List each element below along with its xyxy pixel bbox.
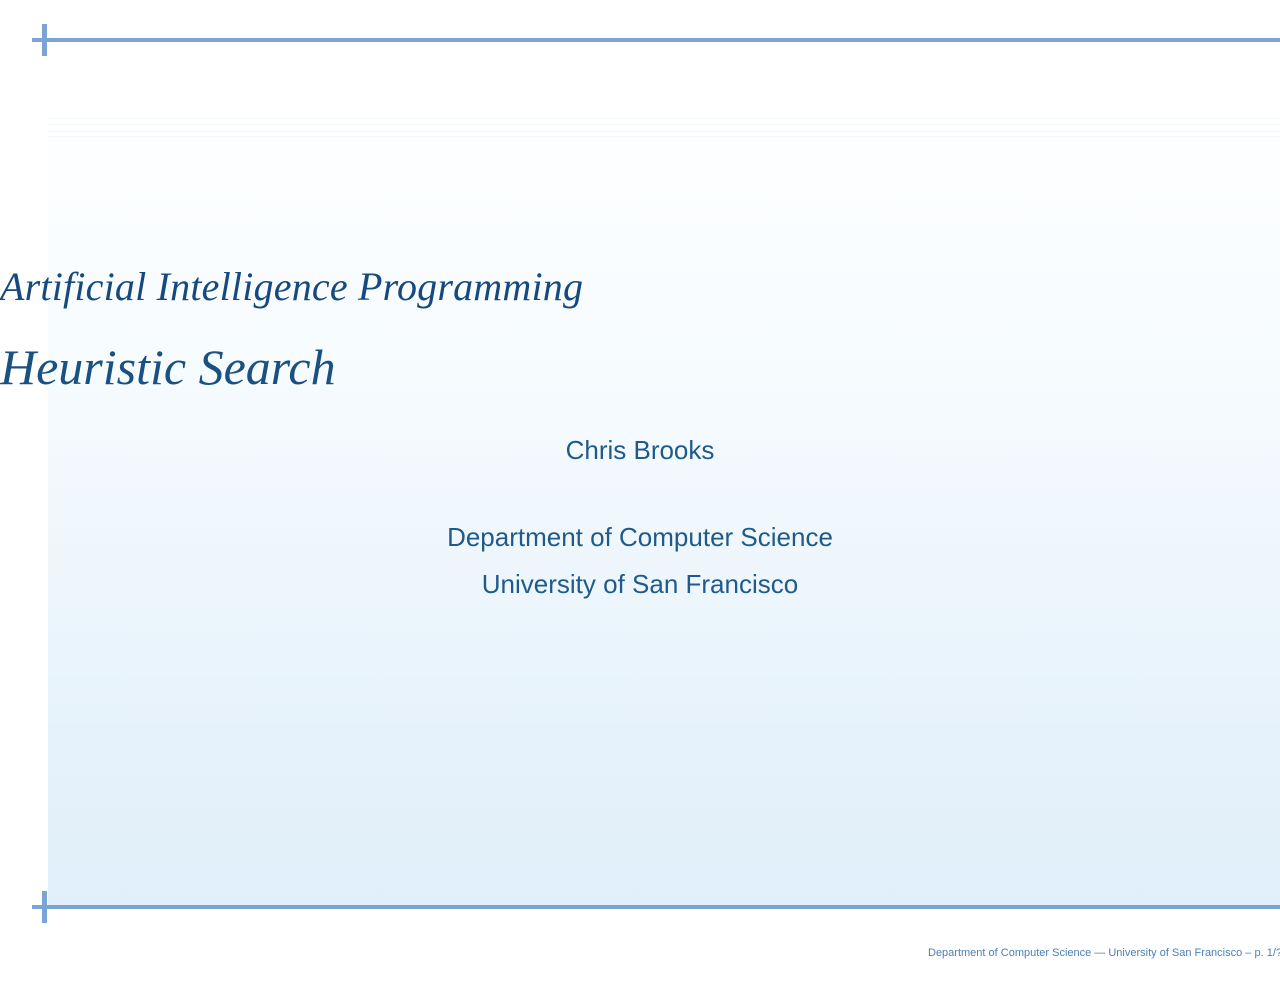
top-horizontal-rule xyxy=(32,38,1280,42)
gradient-band xyxy=(48,140,1280,141)
gradient-band xyxy=(48,136,1280,137)
slide-canvas: Artificial Intelligence Programming Heur… xyxy=(0,0,1280,989)
gradient-band xyxy=(48,131,1280,132)
slide-footer: Department of Computer Science — Univers… xyxy=(0,946,1280,961)
gradient-band xyxy=(48,124,1280,125)
top-left-crop-mark-icon xyxy=(42,24,47,56)
department-name: Department of Computer Science xyxy=(0,520,1280,554)
bottom-horizontal-rule xyxy=(32,905,1280,909)
course-title: Artificial Intelligence Programming xyxy=(0,262,1280,312)
author-name: Chris Brooks xyxy=(0,433,1280,467)
bottom-left-crop-mark-icon xyxy=(42,891,47,923)
institution-name: University of San Francisco xyxy=(0,567,1280,601)
gradient-band xyxy=(48,118,1280,119)
topic-title: Heuristic Search xyxy=(0,336,1280,398)
